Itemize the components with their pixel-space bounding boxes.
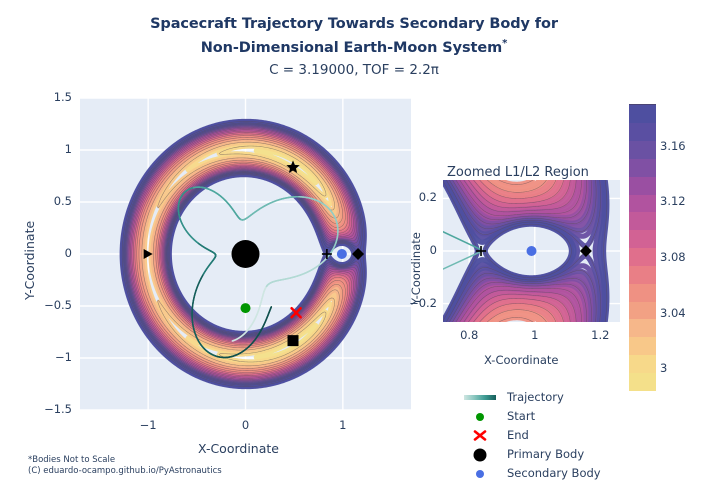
legend-item-primary-body[interactable]: Primary Body: [463, 445, 653, 464]
colorbar: 3.163.123.083.043: [629, 104, 656, 389]
colorbar-tick-0: 3.16: [660, 139, 686, 153]
title-asterisk: *: [502, 38, 507, 49]
title-line-2-text: Non-Dimensional Earth-Moon System: [201, 40, 502, 56]
legend-symbol-secondary-body: [463, 464, 497, 483]
lagrange-point-l2-marker: [580, 245, 592, 257]
title-line-1: Spacecraft Trajectory Towards Secondary …: [0, 14, 708, 34]
main-y-tick-5: −1: [0, 350, 72, 364]
legend-item-end[interactable]: End: [463, 426, 653, 445]
lagrange-point-l2-marker: [352, 248, 364, 260]
legend-label-start: Start: [507, 407, 535, 426]
main-plot-gridlines: [80, 98, 411, 410]
colorbar-tick-4: 3: [660, 361, 667, 375]
primary-body-icon: [474, 448, 487, 461]
colorbar-band-9: [629, 211, 656, 230]
main-x-tick-1: 0: [232, 418, 260, 432]
figure-title-block: Spacecraft Trajectory Towards Secondary …: [0, 14, 708, 81]
body-dot-icon: [476, 413, 484, 421]
main-x-axis-label: X-Coordinate: [198, 441, 279, 456]
figure-subtitle: C = 3.19000, TOF = 2.2π: [0, 60, 708, 81]
legend: TrajectoryStartEndPrimary BodySecondary …: [463, 388, 653, 483]
colorbar-band-7: [629, 247, 656, 266]
title-line-2: Non-Dimensional Earth-Moon System*: [0, 34, 708, 58]
inset-title: Zoomed L1/L2 Region: [447, 165, 589, 180]
inset-plot-area: [443, 180, 620, 322]
colorbar-band-3: [629, 318, 656, 337]
inset-x-tick-2: 1.2: [586, 328, 614, 342]
inset-y-tick-2: −0.2: [403, 296, 437, 310]
secondary-body-marker: [337, 249, 347, 259]
trajectory-start-marker: [241, 303, 251, 313]
main-y-tick-6: −1.5: [0, 402, 72, 416]
colorbar-band-10: [629, 193, 656, 212]
legend-item-start[interactable]: Start: [463, 407, 653, 426]
inset-x-tick-1: 1: [521, 328, 549, 342]
colorbar-band-11: [629, 175, 656, 194]
legend-symbol-primary-body: [463, 445, 497, 464]
trajectory-path: [178, 187, 338, 357]
colorbar-band-12: [629, 157, 656, 176]
legend-symbol-trajectory: [463, 388, 497, 407]
main-y-tick-0: 1.5: [0, 90, 72, 104]
inset-y-tick-1: 0: [403, 243, 437, 257]
colorbar-band-2: [629, 336, 656, 355]
legend-item-secondary-body[interactable]: Secondary Body: [463, 464, 653, 483]
legend-item-trajectory[interactable]: Trajectory: [463, 388, 653, 407]
main-plot-area: [80, 98, 411, 410]
lagrange-point-l5-marker: [288, 335, 299, 346]
legend-symbol-start: [463, 407, 497, 426]
inset-x-axis-label: X-Coordinate: [484, 353, 559, 367]
colorbar-band-14: [629, 122, 656, 141]
colorbar-band-6: [629, 264, 656, 283]
x-mark-icon: [463, 426, 497, 445]
lagrange-point-l3-marker: [144, 249, 153, 259]
legend-symbol-x-mark-icon: [463, 426, 497, 445]
main-x-tick-0: −1: [134, 418, 162, 432]
legend-label-end: End: [507, 426, 529, 445]
main-y-tick-3: 0: [0, 246, 72, 260]
lagrange-point-l1-marker: [322, 249, 332, 259]
colorbar-tick-2: 3.08: [660, 250, 686, 264]
body-dot-icon: [476, 470, 484, 478]
main-y-tick-4: −0.5: [0, 298, 72, 312]
colorbar-tick-3: 3.04: [660, 306, 686, 320]
trajectory-line-icon: [464, 395, 496, 400]
colorbar-band-13: [629, 140, 656, 159]
inset-secondary-body-marker: [527, 246, 537, 256]
primary-body-marker: [232, 240, 260, 268]
footnote-line-1: *Bodies Not to Scale: [28, 455, 222, 466]
main-x-tick-2: 1: [329, 418, 357, 432]
trajectory-end-marker: [292, 308, 301, 317]
colorbar-band-1: [629, 353, 656, 372]
lagrange-point-l1-marker: [476, 246, 486, 256]
legend-label-trajectory: Trajectory: [507, 388, 564, 407]
colorbar-tick-1: 3.12: [660, 194, 686, 208]
legend-label-primary-body: Primary Body: [507, 445, 584, 464]
figure-root: Spacecraft Trajectory Towards Secondary …: [0, 0, 708, 500]
inset-x-tick-0: 0.8: [455, 328, 483, 342]
colorbar-band-4: [629, 300, 656, 319]
colorbar-band-15: [629, 104, 656, 123]
lagrange-point-l4-marker: [286, 160, 299, 173]
main-y-axis-label: Y-Coordinate: [22, 221, 37, 300]
footnote: *Bodies Not to Scale (C) eduardo-ocampo.…: [28, 455, 222, 477]
inset-trajectory-path: [436, 229, 481, 272]
inset-plot-gridlines: [443, 180, 620, 322]
footnote-line-2: (C) eduardo-ocampo.github.io/PyAstronaut…: [28, 466, 222, 477]
colorbar-band-5: [629, 282, 656, 301]
legend-label-secondary-body: Secondary Body: [507, 464, 601, 483]
inset-y-tick-0: 0.2: [403, 190, 437, 204]
main-y-tick-2: 0.5: [0, 194, 72, 208]
main-y-tick-1: 1: [0, 142, 72, 156]
colorbar-band-8: [629, 229, 656, 248]
